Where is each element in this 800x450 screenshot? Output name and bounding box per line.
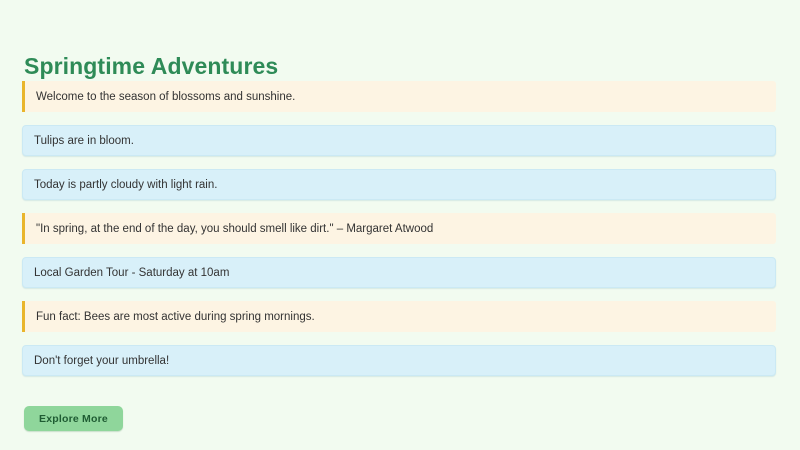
announcement-list: Welcome to the season of blossoms and su… (22, 81, 776, 389)
list-item-text: "In spring, at the end of the day, you s… (25, 223, 433, 235)
list-item: Tulips are in bloom. (22, 125, 776, 156)
list-item-text: Welcome to the season of blossoms and su… (25, 91, 295, 103)
page-root: Springtime Adventures Welcome to the sea… (0, 0, 800, 450)
list-item-text: Fun fact: Bees are most active during sp… (25, 311, 315, 323)
list-item: Today is partly cloudy with light rain. (22, 169, 776, 200)
list-item-text: Don't forget your umbrella! (23, 355, 169, 367)
list-item-text: Local Garden Tour - Saturday at 10am (23, 267, 229, 279)
page-title: Springtime Adventures (24, 53, 278, 79)
list-item-text: Today is partly cloudy with light rain. (23, 179, 217, 191)
list-item: "In spring, at the end of the day, you s… (22, 213, 776, 244)
explore-more-button[interactable]: Explore More (24, 406, 123, 431)
list-item-text: Tulips are in bloom. (23, 135, 134, 147)
list-item: Welcome to the season of blossoms and su… (22, 81, 776, 112)
list-item: Local Garden Tour - Saturday at 10am (22, 257, 776, 288)
list-item: Don't forget your umbrella! (22, 345, 776, 376)
list-item: Fun fact: Bees are most active during sp… (22, 301, 776, 332)
